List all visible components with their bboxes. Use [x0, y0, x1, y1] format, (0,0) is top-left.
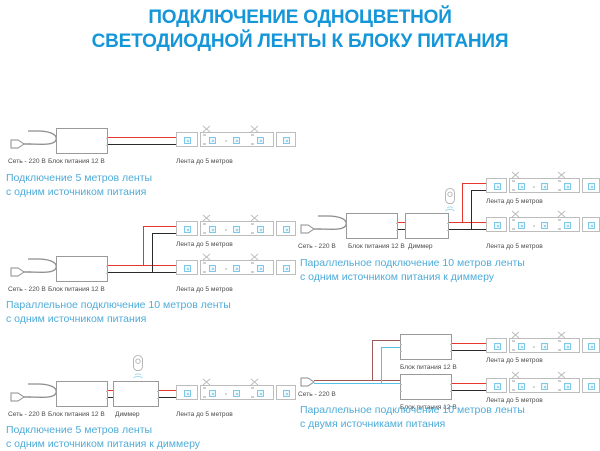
wire-positive	[452, 343, 486, 344]
label-mains: Сеть - 220 В	[8, 286, 46, 294]
label-led-strip: Лента до 5 метров	[176, 411, 233, 419]
cut-mark-icon	[250, 378, 259, 386]
wire-negative	[108, 144, 176, 145]
led-strip	[176, 385, 296, 400]
label-mains: Сеть - 220 В	[8, 158, 46, 166]
led-strip	[176, 132, 296, 147]
wire-positive-riser	[143, 226, 144, 266]
remote-control-icon	[131, 355, 145, 385]
cut-mark-icon	[511, 210, 520, 218]
cut-mark-icon	[202, 378, 211, 386]
diagram-caption: Параллельное подключение 10 метров ленты…	[6, 299, 231, 326]
diagram-10m-parallel-two-psu: Блок питания 12 В Лента до 5 метров Сеть…	[0, 0, 310, 130]
label-mains: Сеть - 220 В	[298, 391, 336, 399]
caption-line-1: Параллельное подключение 10 метров ленты	[300, 404, 525, 418]
wire-live	[314, 380, 372, 381]
remote-control-icon	[443, 188, 457, 218]
label-mains: Сеть - 220 В	[8, 411, 46, 419]
led-strip	[486, 178, 600, 193]
led-strip	[486, 378, 600, 393]
diagram-caption: Подключение 5 метров ленты с одним источ…	[6, 172, 152, 199]
label-power-supply: Блок питания 12 В	[48, 158, 105, 166]
cut-mark-icon	[250, 214, 259, 222]
cut-mark-icon	[202, 214, 211, 222]
wire-negative	[398, 229, 405, 230]
caption-line-2: с одним источником питания	[6, 313, 231, 327]
wire-negative-riser	[152, 233, 153, 273]
wire-negative	[449, 229, 486, 230]
wiring-diagram-page: ПОДКЛЮЧЕНИЕ ОДНОЦВЕТНОЙ СВЕТОДИОДНОЙ ЛЕН…	[0, 0, 600, 450]
wire-live	[372, 380, 400, 381]
wire-neutral-riser	[381, 347, 382, 384]
cut-mark-icon	[511, 171, 520, 179]
led-strip	[486, 217, 600, 232]
caption-line-1: Подключение 5 метров ленты	[6, 424, 200, 438]
label-led-strip: Лента до 5 метров	[486, 357, 543, 365]
wire-negative	[159, 397, 176, 398]
led-strip	[486, 338, 600, 353]
label-power-supply: Блок питания 12 В	[48, 286, 105, 294]
label-power-supply: Блок питания 12 В	[400, 364, 457, 372]
caption-line-2: с одним источником питания к диммеру	[300, 271, 525, 285]
caption-line-2: с одним источником питания к диммеру	[6, 438, 200, 451]
power-supply-box	[56, 381, 108, 407]
wire-negative-upper	[152, 233, 177, 234]
label-led-strip: Лента до 5 метров	[486, 243, 543, 251]
led-strip	[176, 260, 296, 275]
label-led-strip: Лента до 5 метров	[486, 198, 543, 206]
cut-mark-icon	[557, 210, 566, 218]
power-supply-box	[346, 213, 398, 239]
label-led-strip: Лента до 5 метров	[176, 286, 233, 294]
cut-mark-icon	[557, 371, 566, 379]
mains-plug-icon	[300, 374, 322, 390]
wire-positive	[108, 265, 176, 266]
wire-neutral-upper	[381, 347, 400, 348]
power-supply-box	[56, 256, 108, 282]
label-led-strip: Лента до 5 метров	[176, 241, 233, 249]
cut-mark-icon	[557, 171, 566, 179]
wire-positive	[159, 390, 176, 391]
label-led-strip: Лента до 5 метров	[176, 158, 233, 166]
diagram-caption: Подключение 5 метров ленты с одним источ…	[6, 424, 200, 451]
wire-positive-upper	[143, 226, 177, 227]
wire-neutral	[314, 383, 372, 384]
cut-mark-icon	[202, 253, 211, 261]
caption-line-2: с двумя источниками питания	[300, 418, 525, 432]
wire-neutral	[372, 383, 400, 384]
wire-live-riser	[372, 340, 373, 381]
caption-line-1: Параллельное подключение 10 метров ленты	[300, 257, 525, 271]
wire-live-upper	[372, 340, 400, 341]
wire-negative	[108, 272, 176, 273]
wire-negative-upper	[471, 190, 486, 191]
label-power-supply: Блок питания 12 В	[48, 411, 105, 419]
wire-positive	[449, 222, 486, 223]
power-supply-box	[56, 128, 108, 154]
wire-positive-upper	[462, 183, 486, 184]
power-supply-box	[400, 374, 452, 400]
diagram-caption: Параллельное подключение 10 метров ленты…	[300, 257, 525, 284]
cut-mark-icon	[511, 371, 520, 379]
label-dimmer: Диммер	[115, 411, 140, 419]
diagram-caption: Параллельное подключение 10 метров ленты…	[300, 404, 525, 431]
wire-positive	[398, 222, 405, 223]
wire-positive	[108, 137, 176, 138]
wire-negative	[452, 350, 486, 351]
wire-positive	[452, 383, 486, 384]
label-power-supply: Блок питания 12 В	[348, 243, 405, 251]
wire-positive-riser	[462, 183, 463, 223]
caption-line-1: Подключение 5 метров ленты	[6, 172, 152, 186]
wire-negative	[452, 390, 486, 391]
cut-mark-icon	[511, 331, 520, 339]
wire-negative-riser	[471, 190, 472, 230]
caption-line-2: с одним источником питания	[6, 186, 152, 200]
led-strip	[176, 221, 296, 236]
cut-mark-icon	[250, 253, 259, 261]
caption-line-1: Параллельное подключение 10 метров ленты	[6, 299, 231, 313]
power-supply-box	[400, 334, 452, 360]
label-mains: Сеть - 220 В	[298, 243, 336, 251]
cut-mark-icon	[557, 331, 566, 339]
label-dimmer: Диммер	[408, 243, 433, 251]
